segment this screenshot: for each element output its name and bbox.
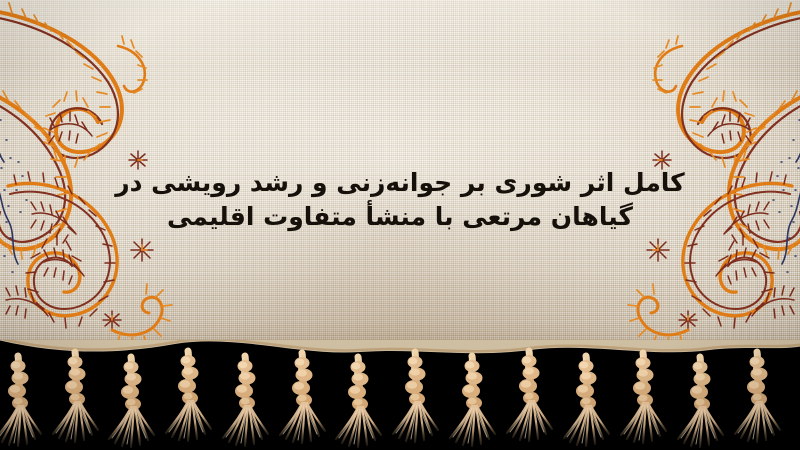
weave-texture-warp bbox=[0, 0, 800, 375]
weave-texture-mottle bbox=[0, 0, 800, 375]
knotted-tassel-fringe bbox=[0, 340, 800, 450]
weave-texture-weft bbox=[0, 0, 800, 375]
fabric-panel bbox=[0, 0, 800, 375]
textile-title-card: کامل اثر شوری بر جوانه‌زنی و رشد رویشی د… bbox=[0, 0, 800, 450]
fabric-shading bbox=[0, 0, 800, 375]
weave-texture-slub bbox=[0, 0, 800, 375]
